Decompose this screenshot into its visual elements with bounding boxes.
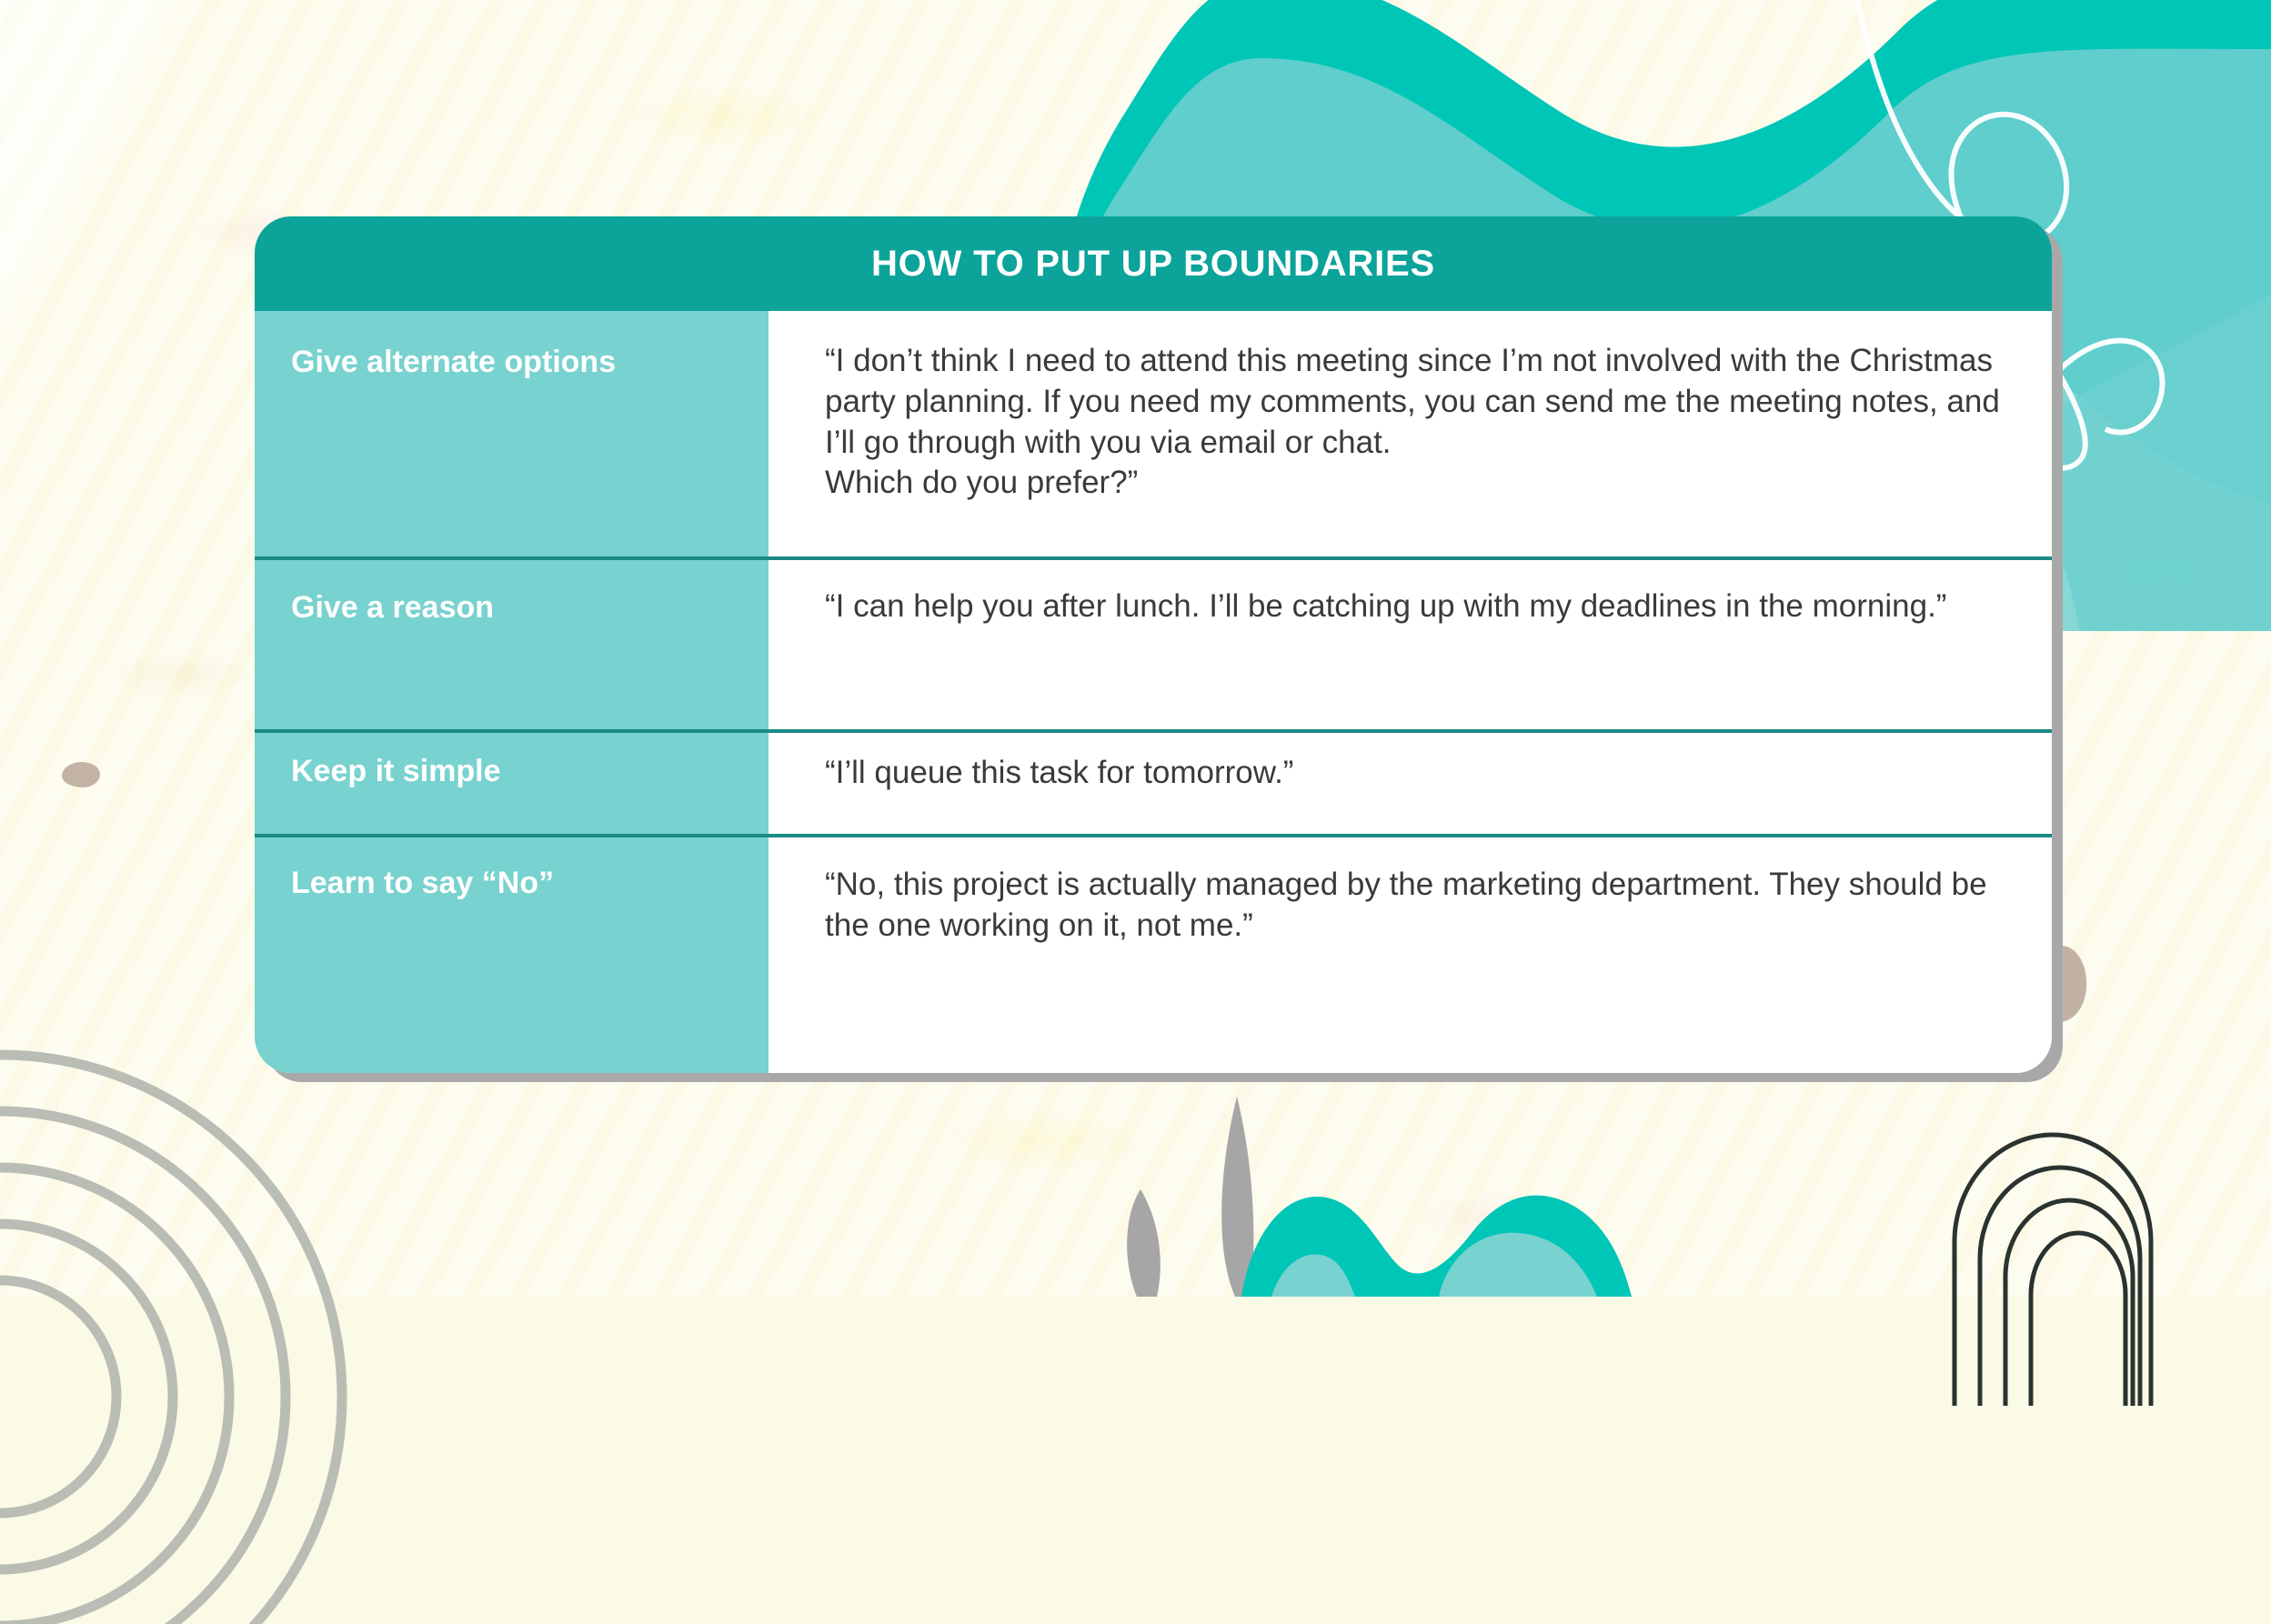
table-row: Learn to say “No” “No, this project is a… [255,834,2052,1073]
table-row: Keep it simple “I’ll queue this task for… [255,729,2052,834]
row-quote: “No, this project is actually managed by… [769,834,2052,1073]
row-label: Learn to say “No” [255,834,769,1073]
boundaries-table: Give alternate options “I don’t think I … [255,311,2052,1073]
row-quote: “I can help you after lunch. I’ll be cat… [769,556,2052,729]
card-title: HOW TO PUT UP BOUNDARIES [255,216,2052,311]
row-label: Give a reason [255,556,769,729]
table-row: Give alternate options “I don’t think I … [255,311,2052,556]
row-quote: “I’ll queue this task for tomorrow.” [769,729,2052,834]
row-quote: “I don’t think I need to attend this mee… [769,311,2052,556]
boundaries-card: HOW TO PUT UP BOUNDARIES Give alternate … [255,216,2052,1073]
row-label: Keep it simple [255,729,769,834]
table-row: Give a reason “I can help you after lunc… [255,556,2052,729]
row-label: Give alternate options [255,311,769,556]
